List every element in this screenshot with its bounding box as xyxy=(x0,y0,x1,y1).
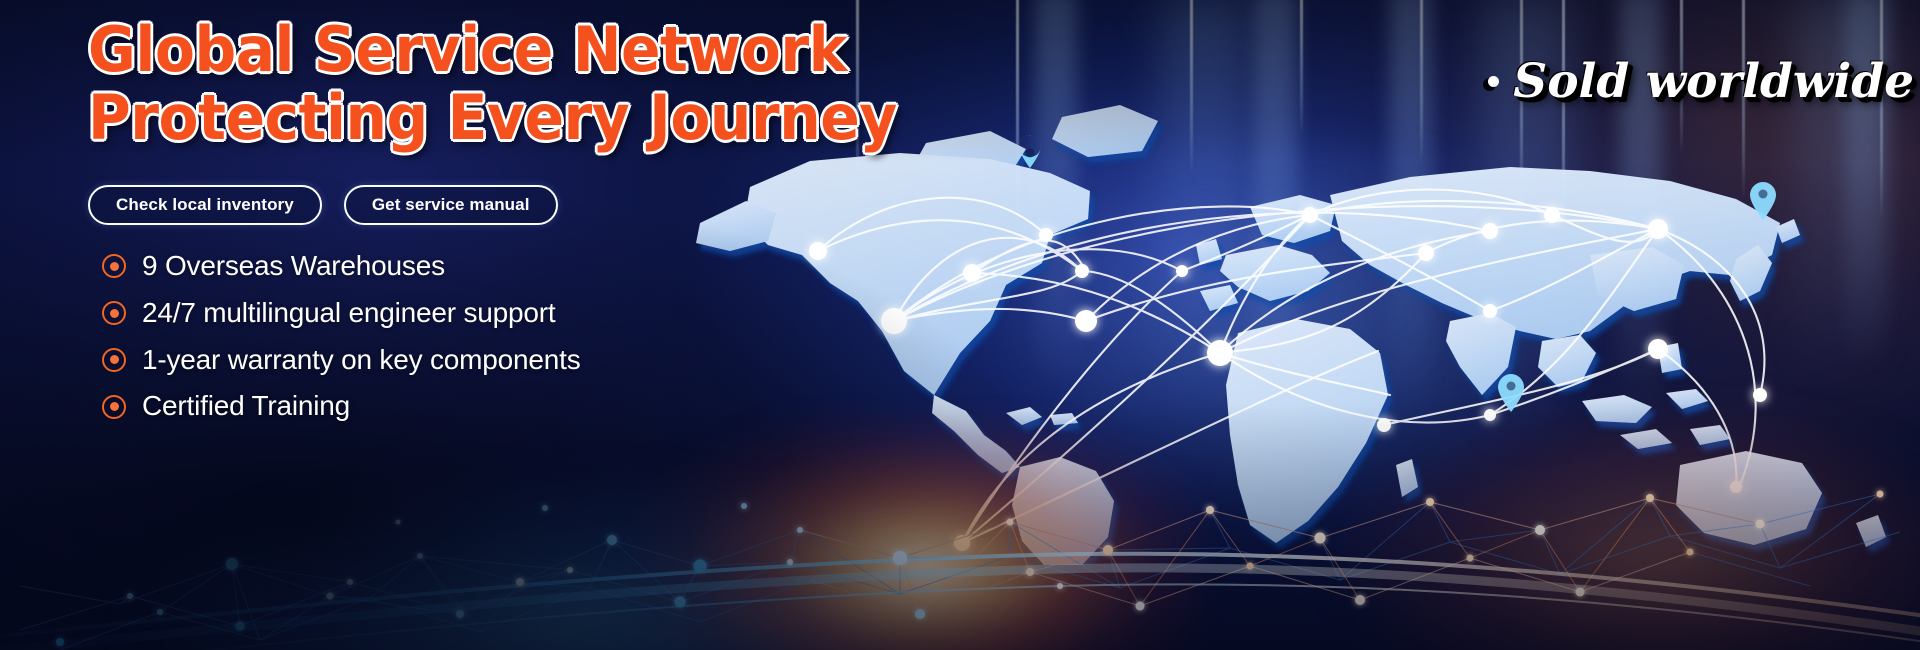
bullet-dot-icon xyxy=(102,348,126,372)
list-item: 1-year warranty on key components xyxy=(102,345,828,376)
check-local-inventory-button[interactable]: Check local inventory xyxy=(88,185,322,225)
feature-label: Certified Training xyxy=(142,391,350,422)
feature-label: 9 Overseas Warehouses xyxy=(142,251,445,282)
banner-content: Global Service Network Protecting Every … xyxy=(88,18,828,422)
bullet-dot-icon xyxy=(102,395,126,419)
feature-label: 1-year warranty on key components xyxy=(142,345,581,376)
list-item: 9 Overseas Warehouses xyxy=(102,251,828,282)
bullet-dot-icon xyxy=(102,301,126,325)
sold-worldwide-label: Sold worldwide xyxy=(1513,58,1914,105)
cta-button-row: Check local inventory Get service manual xyxy=(88,185,828,225)
headline-line-1: Global Service Network xyxy=(88,18,784,82)
bullet-dot-icon xyxy=(102,254,126,278)
list-item: Certified Training xyxy=(102,391,828,422)
feature-label: 24/7 multilingual engineer support xyxy=(142,298,555,329)
global-service-network-banner: Global Service Network Protecting Every … xyxy=(0,0,1920,650)
list-item: 24/7 multilingual engineer support xyxy=(102,298,828,329)
feature-list: 9 Overseas Warehouses 24/7 multilingual … xyxy=(102,251,828,422)
bullet-dot-icon xyxy=(1488,76,1499,87)
get-service-manual-button[interactable]: Get service manual xyxy=(344,185,558,225)
headline-line-2: Protecting Every Journey xyxy=(88,86,784,150)
sold-worldwide-badge: Sold worldwide xyxy=(1488,58,1914,105)
page-title: Global Service Network Protecting Every … xyxy=(88,18,784,151)
